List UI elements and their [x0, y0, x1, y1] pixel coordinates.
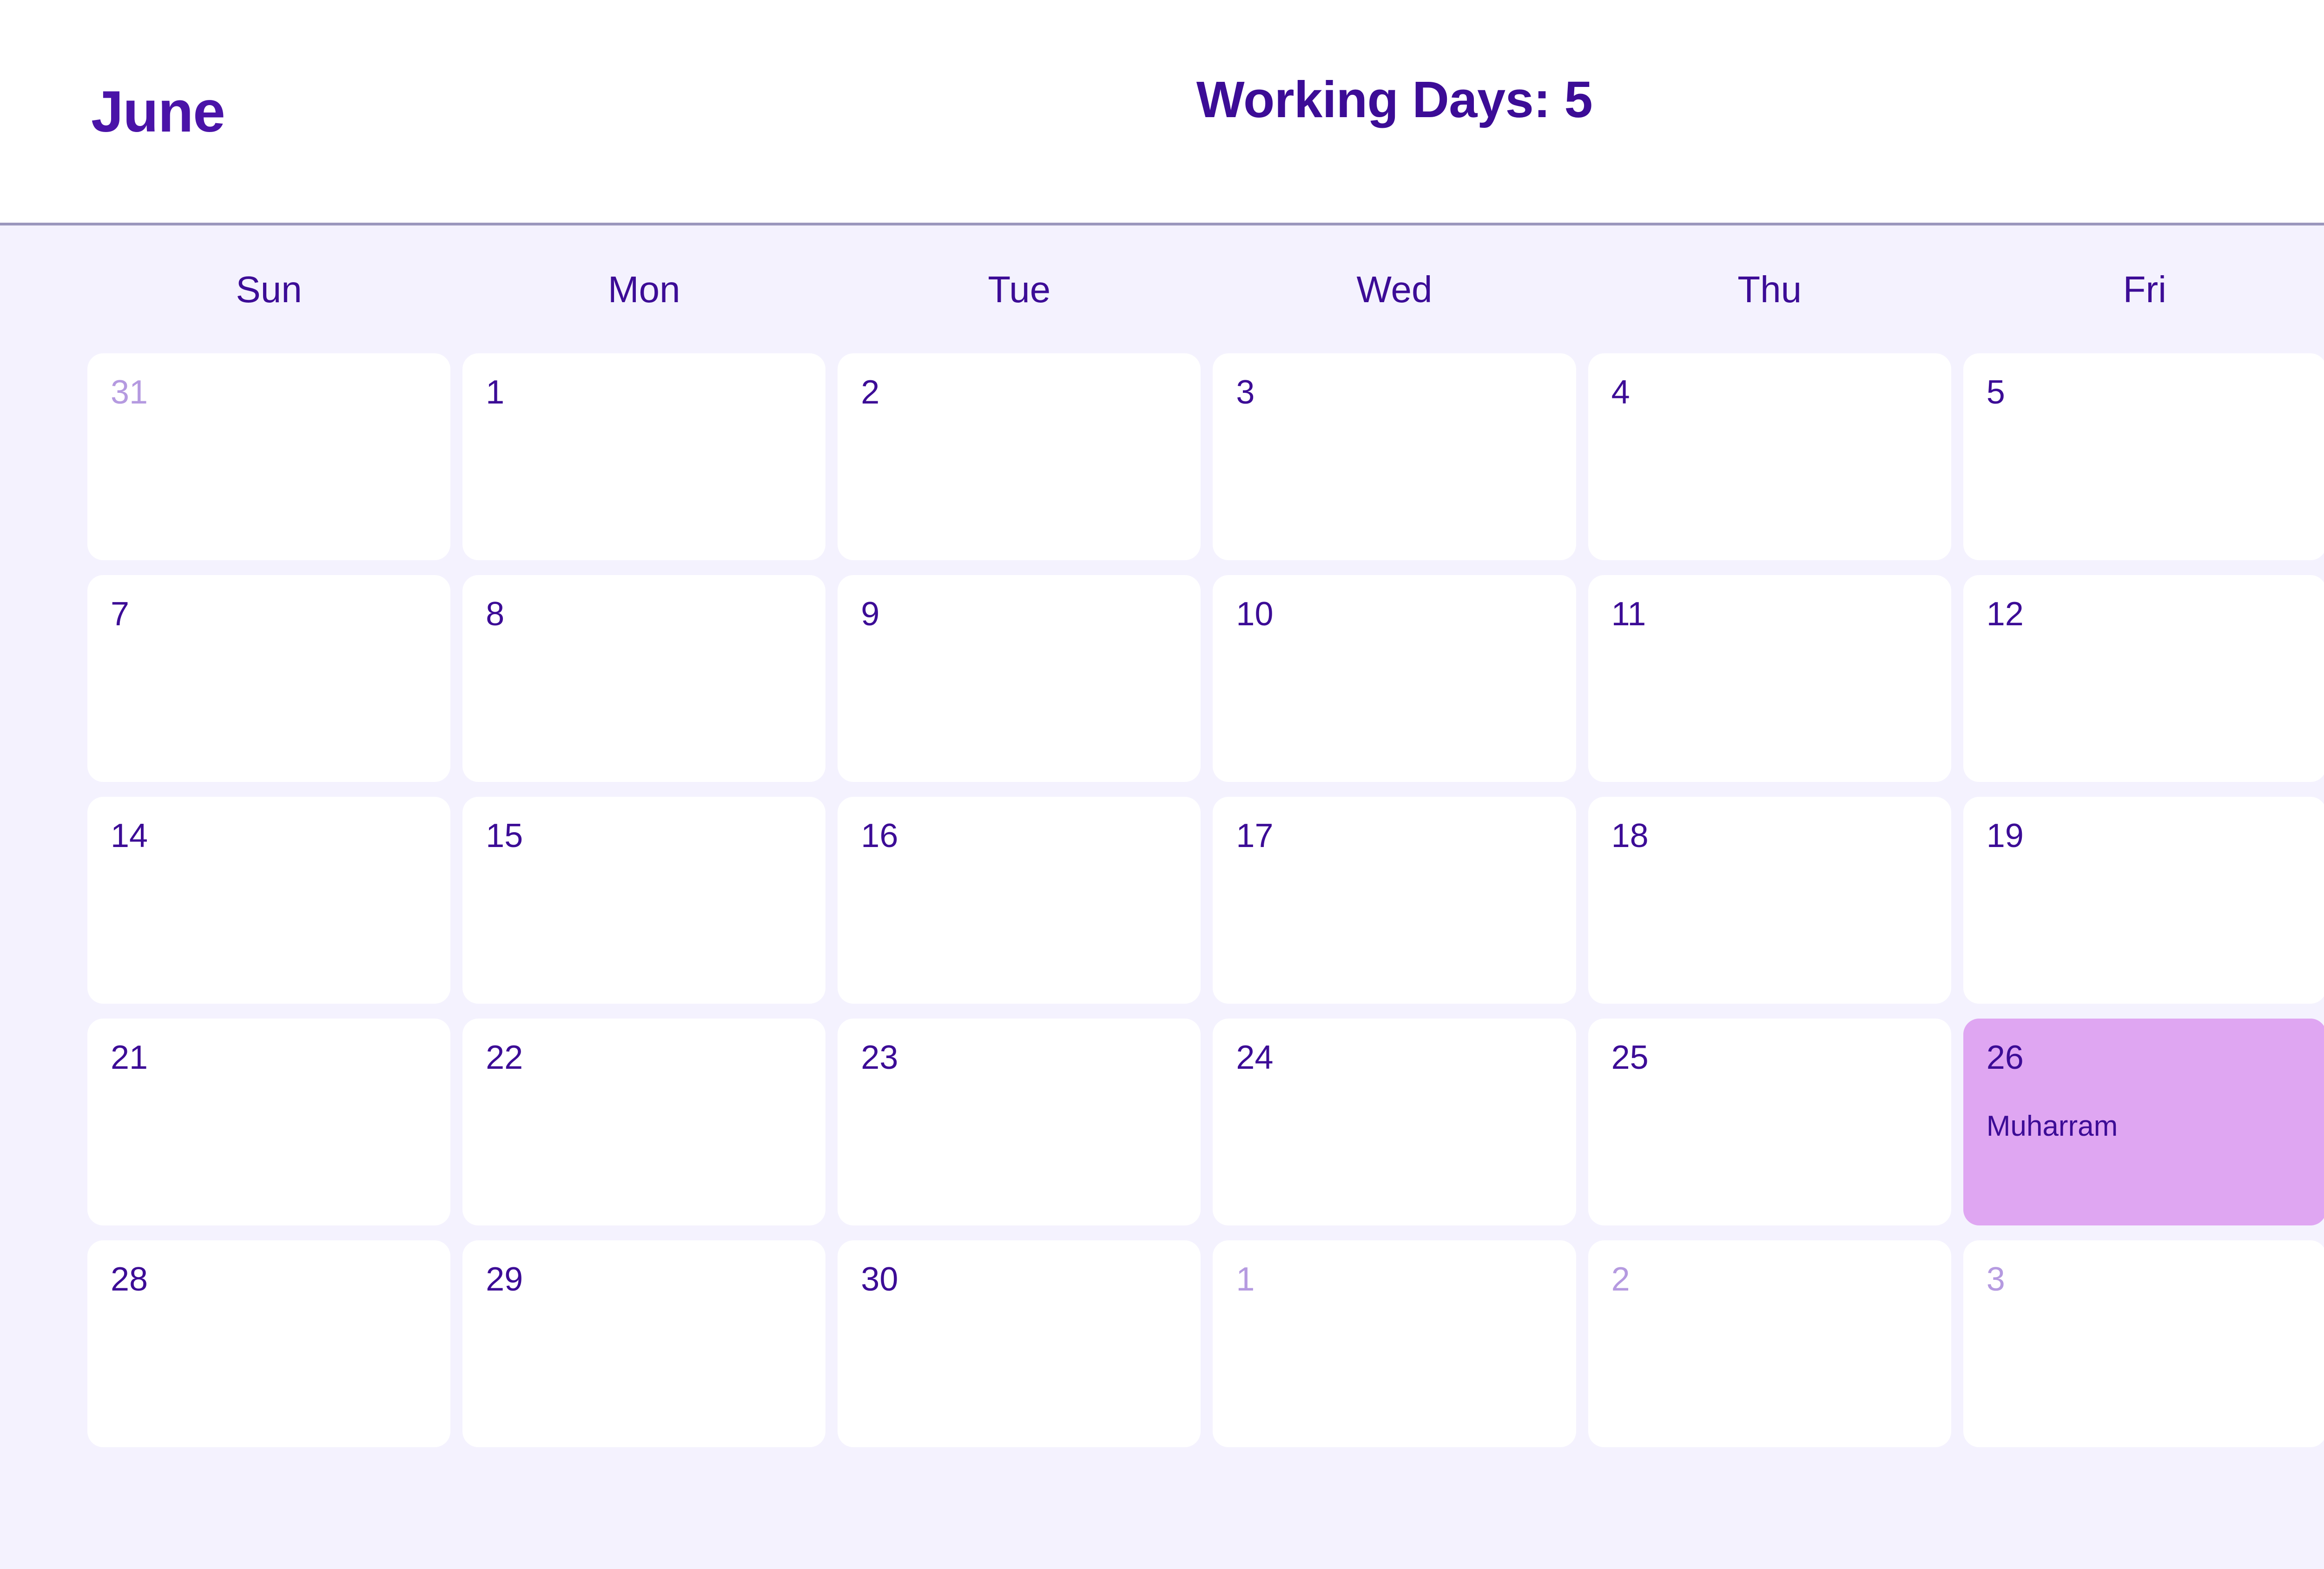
day-number: 26	[1987, 1041, 2303, 1074]
day-cell[interactable]: 7	[87, 575, 450, 782]
day-cell[interactable]: 3	[1213, 353, 1576, 560]
day-cell[interactable]: 3	[1963, 1240, 2324, 1447]
day-number: 21	[111, 1041, 427, 1074]
day-number: 25	[1611, 1041, 1928, 1074]
day-cell[interactable]: 16	[838, 797, 1201, 1004]
day-number: 1	[1236, 1263, 1552, 1296]
weekday-header-mon: Mon	[462, 271, 825, 308]
day-cell[interactable]: 8	[462, 575, 825, 782]
day-cell[interactable]: 30	[838, 1240, 1201, 1447]
day-cell[interactable]: 31	[87, 353, 450, 560]
calendar-header: June Working Days: 5 2026	[0, 0, 2324, 225]
day-number: 12	[1987, 597, 2303, 631]
day-cell[interactable]: 28	[87, 1240, 450, 1447]
day-number: 29	[486, 1263, 802, 1296]
day-cell[interactable]: 26Muharram	[1963, 1019, 2324, 1225]
weekday-header-fri: Fri	[1963, 271, 2324, 308]
day-number: 10	[1236, 597, 1552, 631]
day-cell[interactable]: 12	[1963, 575, 2324, 782]
day-cell[interactable]: 24	[1213, 1019, 1576, 1225]
day-number: 7	[111, 597, 427, 631]
day-cell[interactable]: 25	[1588, 1019, 1951, 1225]
day-number: 11	[1611, 597, 1928, 631]
day-number: 2	[861, 376, 1177, 409]
weekday-header-tue: Tue	[838, 271, 1201, 308]
day-cell[interactable]: 2	[838, 353, 1201, 560]
day-number: 8	[486, 597, 802, 631]
day-number: 31	[111, 376, 427, 409]
day-cell[interactable]: 2	[1588, 1240, 1951, 1447]
day-number: 30	[861, 1263, 1177, 1296]
day-cell[interactable]: 5	[1963, 353, 2324, 560]
day-number: 1	[486, 376, 802, 409]
day-cell[interactable]: 19	[1963, 797, 2324, 1004]
day-cell[interactable]: 23	[838, 1019, 1201, 1225]
day-number: 5	[1987, 376, 2303, 409]
day-cell[interactable]: 4	[1588, 353, 1951, 560]
day-cell[interactable]: 15	[462, 797, 825, 1004]
day-cell[interactable]: 1	[462, 353, 825, 560]
day-number: 17	[1236, 819, 1552, 853]
day-cell[interactable]: 14	[87, 797, 450, 1004]
weekday-header-wed: Wed	[1213, 271, 1576, 308]
working-days-summary: Working Days: 5	[0, 74, 2324, 126]
day-number: 3	[1236, 376, 1552, 409]
day-number: 3	[1987, 1263, 2303, 1296]
day-grid: 31123456Summer Break (IX–XII)78910111213…	[87, 353, 2324, 1447]
day-cell[interactable]: 1	[1213, 1240, 1576, 1447]
day-cell[interactable]: 11	[1588, 575, 1951, 782]
day-cell[interactable]: 18	[1588, 797, 1951, 1004]
day-number: 14	[111, 819, 427, 853]
weekday-header-thu: Thu	[1588, 271, 1951, 308]
day-number: 18	[1611, 819, 1928, 853]
day-number: 22	[486, 1041, 802, 1074]
day-cell[interactable]: 21	[87, 1019, 450, 1225]
day-cell[interactable]: 10	[1213, 575, 1576, 782]
day-number: 28	[111, 1263, 427, 1296]
day-number: 19	[1987, 819, 2303, 853]
day-number: 2	[1611, 1263, 1928, 1296]
day-cell[interactable]: 22	[462, 1019, 825, 1225]
day-number: 24	[1236, 1041, 1552, 1074]
day-cell[interactable]: 9	[838, 575, 1201, 782]
day-number: 9	[861, 597, 1177, 631]
weekday-header-sun: Sun	[87, 271, 450, 308]
day-cell[interactable]: 17	[1213, 797, 1576, 1004]
weekday-header-row: Sun Mon Tue Wed Thu Fri Sat	[87, 225, 2324, 353]
day-number: 23	[861, 1041, 1177, 1074]
calendar-body: Sun Mon Tue Wed Thu Fri Sat 31123456Summ…	[0, 225, 2324, 1569]
day-number: 16	[861, 819, 1177, 853]
day-number: 15	[486, 819, 802, 853]
day-cell[interactable]: 29	[462, 1240, 825, 1447]
event-label: Muharram	[1987, 1108, 2303, 1145]
day-number: 4	[1611, 376, 1928, 409]
